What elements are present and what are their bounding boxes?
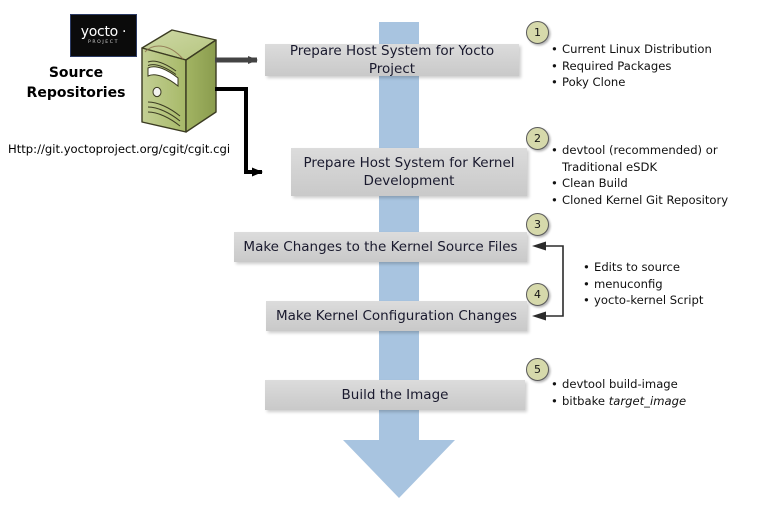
step-circle-1-number: 1 (534, 26, 541, 39)
step-1-bullet-item: Poky Clone (551, 74, 712, 91)
step-4-bullet-item: Edits to source (583, 259, 703, 276)
box-make-kernel-config-changes[interactable]: Make Kernel Configuration Changes (266, 301, 527, 331)
box-make-kernel-config-changes-label: Make Kernel Configuration Changes (276, 307, 517, 325)
step-4-bullet-item: menuconfig (583, 276, 703, 293)
step-circle-3-number: 3 (534, 218, 541, 231)
step-5-bullet-item: bitbake target_image (551, 393, 686, 410)
box-build-the-image-label: Build the Image (342, 386, 449, 404)
step-1-bullet-item: Required Packages (551, 58, 712, 75)
step-5-bullet-text: devtool build-image (562, 377, 678, 391)
step-4-bullet-list: Edits to source menuconfig yocto-kernel … (583, 259, 703, 309)
step-circle-3: 3 (526, 213, 549, 236)
server-icon (138, 28, 220, 142)
step-5-bullet-item: devtool build-image (551, 376, 686, 393)
step-circle-5: 5 (526, 358, 549, 381)
source-repositories-label-line1: Source (16, 63, 136, 83)
step-2-bullet-item: devtool (recommended) or (551, 142, 728, 159)
source-repositories-label: Source Repositories (16, 63, 136, 104)
step-2-bullet-continuation: Traditional eSDK (551, 159, 728, 176)
yocto-logo-subtitle: PROJECT (88, 41, 119, 46)
yocto-logo-wordmark: yocto · (81, 25, 126, 39)
step-circle-2: 2 (526, 127, 549, 150)
main-flow-arrow-head (343, 440, 455, 498)
step-circle-4: 4 (526, 283, 549, 306)
step-circle-5-number: 5 (534, 363, 541, 376)
box-prepare-host-yocto-label: Prepare Host System for Yocto Project (265, 42, 519, 78)
step-2-bullet-list: devtool (recommended) or Traditional eSD… (551, 142, 728, 208)
step-circle-1: 1 (526, 21, 549, 44)
box-make-changes-kernel-source[interactable]: Make Changes to the Kernel Source Files (234, 232, 527, 262)
connector-feedback-bracket (532, 242, 563, 321)
step-1-bullet-list: Current Linux Distribution Required Pack… (551, 41, 712, 91)
box-make-changes-kernel-source-label: Make Changes to the Kernel Source Files (243, 238, 517, 256)
source-repositories-url: Http://git.yoctoproject.org/cgit/cgit.cg… (8, 142, 230, 156)
connector-server-to-box2 (215, 89, 262, 172)
diagram-canvas: yocto · PROJECT Source Repositories Http… (0, 0, 769, 517)
step-1-bullet-item: Current Linux Distribution (551, 41, 712, 58)
box-build-the-image[interactable]: Build the Image (265, 380, 525, 410)
box-prepare-host-kernel-label-line1: Prepare Host System for Kernel (303, 154, 514, 172)
step-5-bullet-emphasis: target_image (609, 394, 686, 408)
step-circle-2-number: 2 (534, 132, 541, 145)
step-5-bullet-text: bitbake (562, 394, 609, 408)
box-prepare-host-yocto[interactable]: Prepare Host System for Yocto Project (265, 44, 519, 76)
step-circle-4-number: 4 (534, 288, 541, 301)
step-5-bullet-list: devtool build-image bitbake target_image (551, 376, 686, 409)
box-prepare-host-kernel-label-line2: Development (364, 172, 455, 190)
step-4-bullet-item: yocto-kernel Script (583, 292, 703, 309)
yocto-project-logo: yocto · PROJECT (70, 14, 137, 57)
step-2-bullet-item: Cloned Kernel Git Repository (551, 192, 728, 209)
source-repositories-label-line2: Repositories (16, 83, 136, 103)
box-prepare-host-kernel[interactable]: Prepare Host System for Kernel Developme… (291, 148, 527, 196)
step-2-bullet-item: Clean Build (551, 175, 728, 192)
